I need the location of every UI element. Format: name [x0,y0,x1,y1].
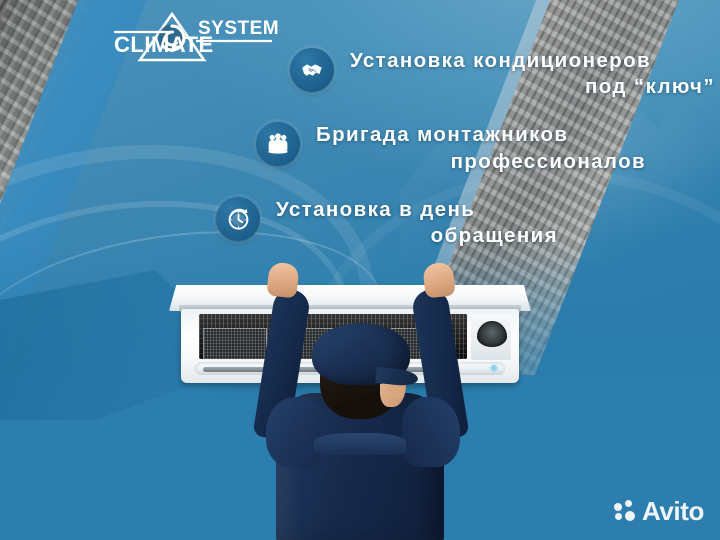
technician-right-hand [422,262,455,299]
product-photo [0,255,720,540]
ac-status-led [491,365,497,371]
clock-fast-icon [216,197,260,241]
benefit-text-3: Установка в день обращения [276,197,558,249]
benefit-row-2: Бригада монтажников профессионалов [256,122,720,174]
technician-collar [314,433,406,455]
avito-dots-icon [614,500,636,522]
technician-right-shoulder [402,397,460,467]
technician-left-shoulder [266,397,324,467]
benefits-list: Установка кондиционеров под “ключ” Брига… [0,48,720,271]
people-group-icon [256,122,300,166]
avito-watermark: Avito [614,498,704,524]
advertisement-banner: CLIMATE SYSTEMS Установка кондиционеров … [0,0,720,540]
technician-left-hand [266,262,299,299]
benefit-line-3b: обращения [276,223,558,249]
benefit-text-1: Установка кондиционеров под “ключ” [350,48,715,100]
benefit-line-2a: Бригада монтажников [316,122,646,148]
benefit-row-3: Установка в день обращения [216,197,720,249]
ac-side-vent [477,321,507,347]
benefit-line-1b: под “ключ” [350,74,715,100]
benefit-text-2: Бригада монтажников профессионалов [316,122,646,174]
avito-wordmark: Avito [642,498,704,524]
logo-text-systems: SYSTEMS [198,18,280,39]
technician-figure [248,341,468,540]
handshake-icon [290,48,334,92]
benefit-line-2b: профессионалов [316,149,646,175]
benefit-line-1a: Установка кондиционеров [350,48,715,74]
benefit-row-1: Установка кондиционеров под “ключ” [290,48,720,100]
benefit-line-3a: Установка в день [276,197,558,223]
